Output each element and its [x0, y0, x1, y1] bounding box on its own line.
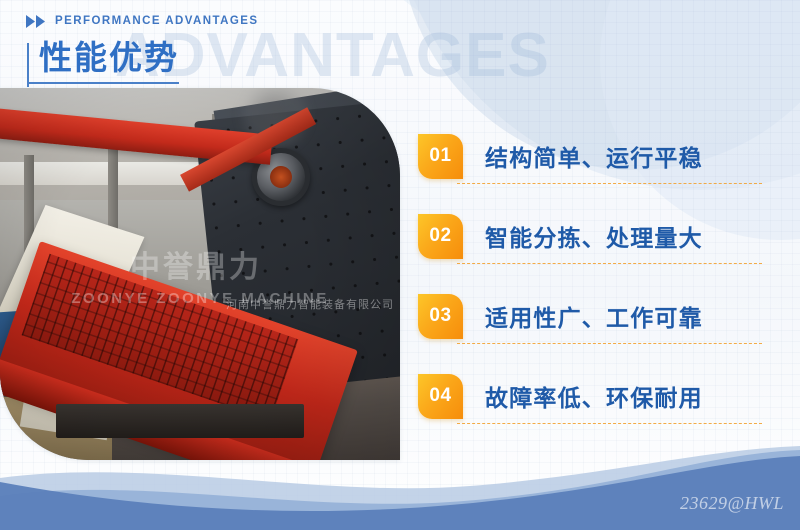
feature-number: 02: [429, 225, 451, 247]
feature-item[interactable]: 02 智能分拣、处理量大: [418, 210, 770, 290]
feature-row: 02 智能分拣、处理量大: [418, 210, 770, 262]
product-photo: 中誉鼎力 ZOONYE ZOONYE MACHINE 河南中誉鼎力智能装备有限公…: [0, 88, 400, 460]
feature-divider: [457, 423, 762, 424]
poster-canvas: ADVANTAGES PERFORMANCE ADVANTAGES 性能优势: [0, 0, 800, 530]
photo-scene: 中誉鼎力 ZOONYE ZOONYE MACHINE 河南中誉鼎力智能装备有限公…: [0, 88, 400, 460]
feature-item[interactable]: 01 结构简单、运行平稳: [418, 130, 770, 210]
feature-row: 01 结构简单、运行平稳: [418, 130, 770, 182]
feature-row: 04 故障率低、环保耐用: [418, 370, 770, 422]
feature-label: 故障率低、环保耐用: [485, 379, 703, 413]
feature-number-badge: 02: [418, 214, 463, 259]
feature-number-badge: 03: [418, 294, 463, 339]
feature-divider: [457, 263, 762, 264]
feature-label: 智能分拣、处理量大: [485, 219, 703, 253]
kicker-label: PERFORMANCE ADVANTAGES: [55, 15, 259, 27]
title-bracket-horizontal: [27, 82, 179, 84]
header-kicker: PERFORMANCE ADVANTAGES: [26, 12, 259, 30]
feature-label: 结构简单、运行平稳: [485, 139, 703, 173]
double-triangle-right-icon: [26, 15, 46, 28]
title-bracket-vertical: [27, 43, 29, 87]
feature-number: 04: [429, 385, 451, 407]
feature-item[interactable]: 03 适用性广、工作可靠: [418, 290, 770, 370]
feature-list: 01 结构简单、运行平稳 02 智能分拣、处理量大 03 适用性广、工作可靠: [418, 130, 770, 450]
page-title: 性能优势: [39, 39, 247, 77]
feature-number: 01: [429, 145, 451, 167]
photo-watermark-company: 河南中誉鼎力智能装备有限公司: [226, 296, 394, 312]
feature-number-badge: 01: [418, 134, 463, 179]
feature-row: 03 适用性广、工作可靠: [418, 290, 770, 342]
feature-item[interactable]: 04 故障率低、环保耐用: [418, 370, 770, 450]
feature-label: 适用性广、工作可靠: [485, 299, 703, 333]
feature-divider: [457, 343, 762, 344]
photo-vignette: [0, 88, 400, 460]
feature-number-badge: 04: [418, 374, 463, 419]
wave-layer-mid: [0, 450, 800, 530]
header-block: PERFORMANCE ADVANTAGES 性能优势: [26, 12, 259, 84]
feature-number: 03: [429, 305, 451, 327]
signature-watermark: 23629@HWL: [680, 493, 784, 514]
title-wrapper: 性能优势: [26, 37, 259, 84]
feature-divider: [457, 183, 762, 184]
